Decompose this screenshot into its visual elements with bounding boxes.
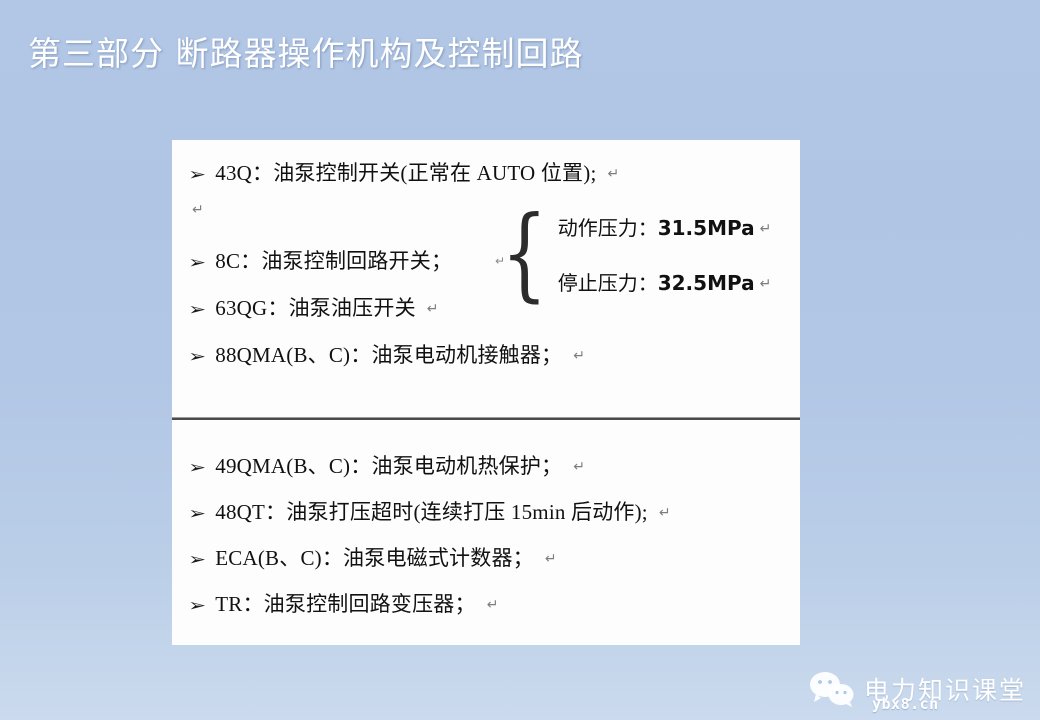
paragraph-mark-icon: ↵ xyxy=(487,598,499,612)
paragraph-mark-icon: ↵ xyxy=(760,221,772,237)
stop-pressure-value: 32.5MPa xyxy=(658,271,755,295)
list-item: ➢ 43Q：油泵控制开关(正常在 AUTO 位置); ↵ xyxy=(172,163,800,184)
operating-pressure-row: 动作压力：31.5MPa↵ xyxy=(558,212,772,241)
stop-pressure-label: 停止压力： xyxy=(558,271,658,295)
arrowhead-bullet-icon: ➢ xyxy=(188,460,206,477)
list-item-label: 8C：油泵控制回路开关； xyxy=(215,251,452,272)
list-item-label: 48QT：油泵打压超时(连续打压 15min 后动作); xyxy=(215,502,648,523)
paragraph-mark-icon: ↵ xyxy=(573,349,585,363)
operating-pressure-label: 动作压力： xyxy=(558,216,658,240)
pressure-values: 动作压力：31.5MPa↵ 停止压力：32.5MPa↵ xyxy=(558,212,772,296)
operating-pressure-value: 31.5MPa xyxy=(658,216,755,240)
watermark: 电力知识课堂 ybx8.cn xyxy=(809,671,1026,712)
paragraph-mark-icon: ↵ xyxy=(659,506,671,520)
paragraph-mark-icon: ↵ xyxy=(427,302,439,316)
list-item-label: 88QMA(B、C)：油泵电动机接触器； xyxy=(215,345,562,366)
list-item: ➢ 88QMA(B、C)：油泵电动机接触器； ↵ xyxy=(172,345,800,366)
list-item: ➢ 63QG：油泵油压开关 ↵ xyxy=(172,298,800,319)
page-title: 第三部分 断路器操作机构及控制回路 xyxy=(28,27,584,75)
left-curly-brace-icon: { xyxy=(501,212,548,295)
list-item-label: 43Q：油泵控制开关(正常在 AUTO 位置); xyxy=(215,163,596,184)
list-item-label: ECA(B、C)：油泵电磁式计数器； xyxy=(215,548,534,569)
watermark-text-group: 电力知识课堂 ybx8.cn xyxy=(864,678,1026,704)
pressure-brace-group: { ↵ 动作压力：31.5MPa↵ 停止压力：32.5MPa↵ xyxy=(497,212,771,296)
arrowhead-bullet-icon: ➢ xyxy=(188,552,206,569)
arrowhead-bullet-icon: ➢ xyxy=(188,598,206,615)
list-item: ➢ 48QT：油泵打压超时(连续打压 15min 后动作); ↵ xyxy=(172,502,800,523)
stop-pressure-row: 停止压力：32.5MPa↵ xyxy=(558,267,772,296)
paragraph-mark-icon: ↵ xyxy=(573,460,585,474)
list-item: ➢ ECA(B、C)：油泵电磁式计数器； ↵ xyxy=(172,548,800,569)
lower-section: ➢ 49QMA(B、C)：油泵电动机热保护； ↵ ➢ 48QT：油泵打压超时(连… xyxy=(172,417,800,615)
arrowhead-bullet-icon: ➢ xyxy=(188,506,206,523)
list-item: ➢ TR：油泵控制回路变压器； ↵ xyxy=(172,594,800,615)
paragraph-mark-icon: ↵ xyxy=(545,552,557,566)
wechat-icon xyxy=(809,671,855,712)
content-panel: ➢ 43Q：油泵控制开关(正常在 AUTO 位置); ↵ ↵ ➢ 8C：油泵控制… xyxy=(172,140,800,645)
list-item-label: 49QMA(B、C)：油泵电动机热保护； xyxy=(215,456,562,477)
list-item-label: 63QG：油泵油压开关 xyxy=(215,298,416,319)
upper-section: ➢ 43Q：油泵控制开关(正常在 AUTO 位置); ↵ ↵ ➢ 8C：油泵控制… xyxy=(172,140,800,417)
list-item: ➢ 49QMA(B、C)：油泵电动机热保护； ↵ xyxy=(172,456,800,477)
arrowhead-bullet-icon: ➢ xyxy=(188,255,206,272)
paragraph-mark-icon: ↵ xyxy=(760,276,772,292)
paragraph-mark-icon: ↵ xyxy=(495,254,505,268)
watermark-domain: ybx8.cn xyxy=(872,695,939,713)
list-item-label: TR：油泵控制回路变压器； xyxy=(215,594,475,615)
paragraph-mark-icon: ↵ xyxy=(192,202,204,218)
paragraph-mark-icon: ↵ xyxy=(607,167,619,181)
arrowhead-bullet-icon: ➢ xyxy=(188,302,206,319)
arrowhead-bullet-icon: ➢ xyxy=(188,349,206,366)
arrowhead-bullet-icon: ➢ xyxy=(188,167,206,184)
